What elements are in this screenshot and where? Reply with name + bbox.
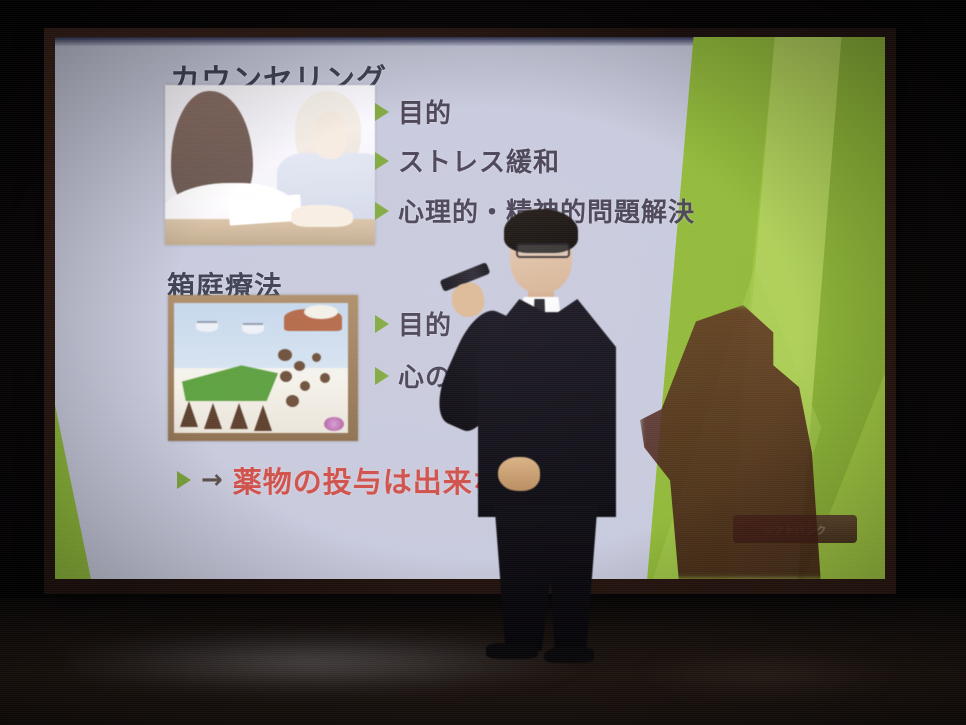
bullet-item-1: 目的 [375,93,452,130]
bullet-label: ストレス緩和 [398,142,560,179]
sandbox-figure [294,361,305,371]
triangle-bullet-icon [375,202,389,220]
presenter-shoe-right [544,647,594,663]
bullet-item-2: ストレス緩和 [375,142,560,179]
counseling-session-photo [165,85,375,245]
sandbox-hill-snow [304,305,338,319]
triangle-bullet-icon [375,315,389,333]
sandbox-tree [180,401,198,427]
arrow-icon: → [201,465,223,495]
presenter-suit-jacket [478,299,616,517]
sandbox-tree [254,405,272,431]
presenter-legs [490,505,602,651]
triangle-bullet-icon [375,152,389,170]
screenshot-root: カウンセリング 目的 ストレス緩和 心理的・精神的問題解決 箱庭療法 [0,0,966,725]
presenter-lower-hand [498,457,540,491]
sandbox-tree [230,403,248,429]
floor-reflection-right [620,640,920,710]
triangle-bullet-icon [375,367,389,385]
sandplay-therapy-photo [168,295,358,441]
sandbox-figure [280,371,292,382]
sandbox-boat [242,325,264,334]
sandbox-figure [312,353,321,362]
sandbox-tree [204,403,222,429]
triangle-bullet-icon [177,471,191,489]
presenter-shoe-left [486,643,538,659]
sandbox-figure [320,373,330,383]
photo-brightness-wash [165,85,375,245]
sandbox-figure [286,395,299,407]
sandbox-figure [278,349,292,361]
sandbox-boat [196,323,218,332]
bullet-label: 目的 [398,93,452,130]
sandbox-figure [300,381,310,391]
triangle-bullet-icon [375,103,389,121]
presenter [432,205,662,675]
glasses-icon [516,243,570,258]
sandbox-flower [324,417,344,431]
sandbox-sand [174,303,348,433]
sandbox-grass [182,365,278,401]
